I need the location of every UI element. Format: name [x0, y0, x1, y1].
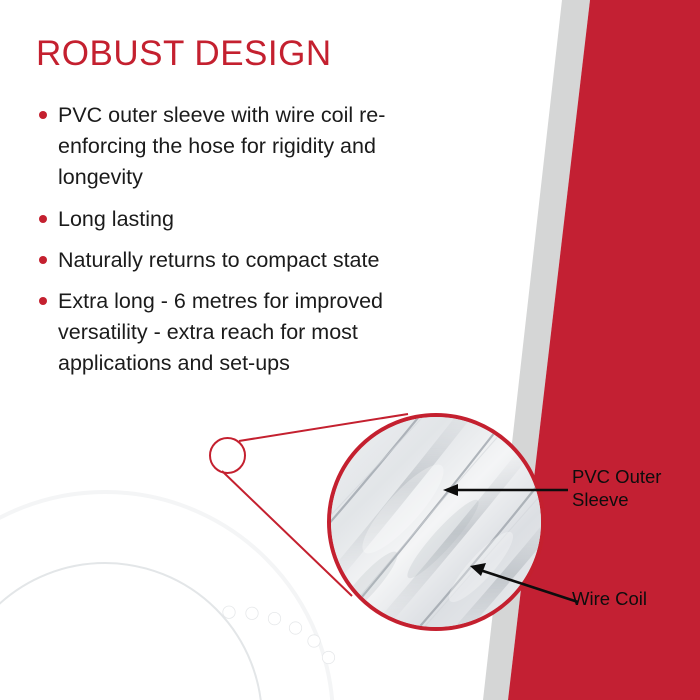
- list-item-label: Naturally returns to compact state: [58, 248, 379, 272]
- feature-list: PVC outer sleeve with wire coil re-enfor…: [36, 100, 456, 389]
- list-item: Extra long - 6 metres for improved versa…: [36, 286, 456, 380]
- list-item-label: Long lasting: [58, 207, 174, 231]
- label-wire-coil: Wire Coil: [572, 588, 647, 611]
- list-item-label: Extra long - 6 metres for improved versa…: [58, 289, 383, 375]
- callout-source-circle: [209, 437, 246, 474]
- page-title: ROBUST DESIGN: [36, 34, 332, 74]
- product-hose-image: [0, 420, 340, 700]
- bullet-dot-icon: [39, 215, 47, 223]
- bullet-dot-icon: [39, 111, 47, 119]
- list-item-label: PVC outer sleeve with wire coil re-enfor…: [58, 103, 385, 189]
- infographic-page: ROBUST DESIGN PVC outer sleeve with wire…: [0, 0, 700, 700]
- bullet-dot-icon: [39, 256, 47, 264]
- magnified-detail-circle: [327, 413, 545, 631]
- label-pvc-outer-sleeve: PVC Outer Sleeve: [572, 466, 661, 511]
- list-item: Long lasting: [36, 204, 456, 235]
- bullet-dot-icon: [39, 297, 47, 305]
- list-item: PVC outer sleeve with wire coil re-enfor…: [36, 100, 456, 194]
- list-item: Naturally returns to compact state: [36, 245, 456, 276]
